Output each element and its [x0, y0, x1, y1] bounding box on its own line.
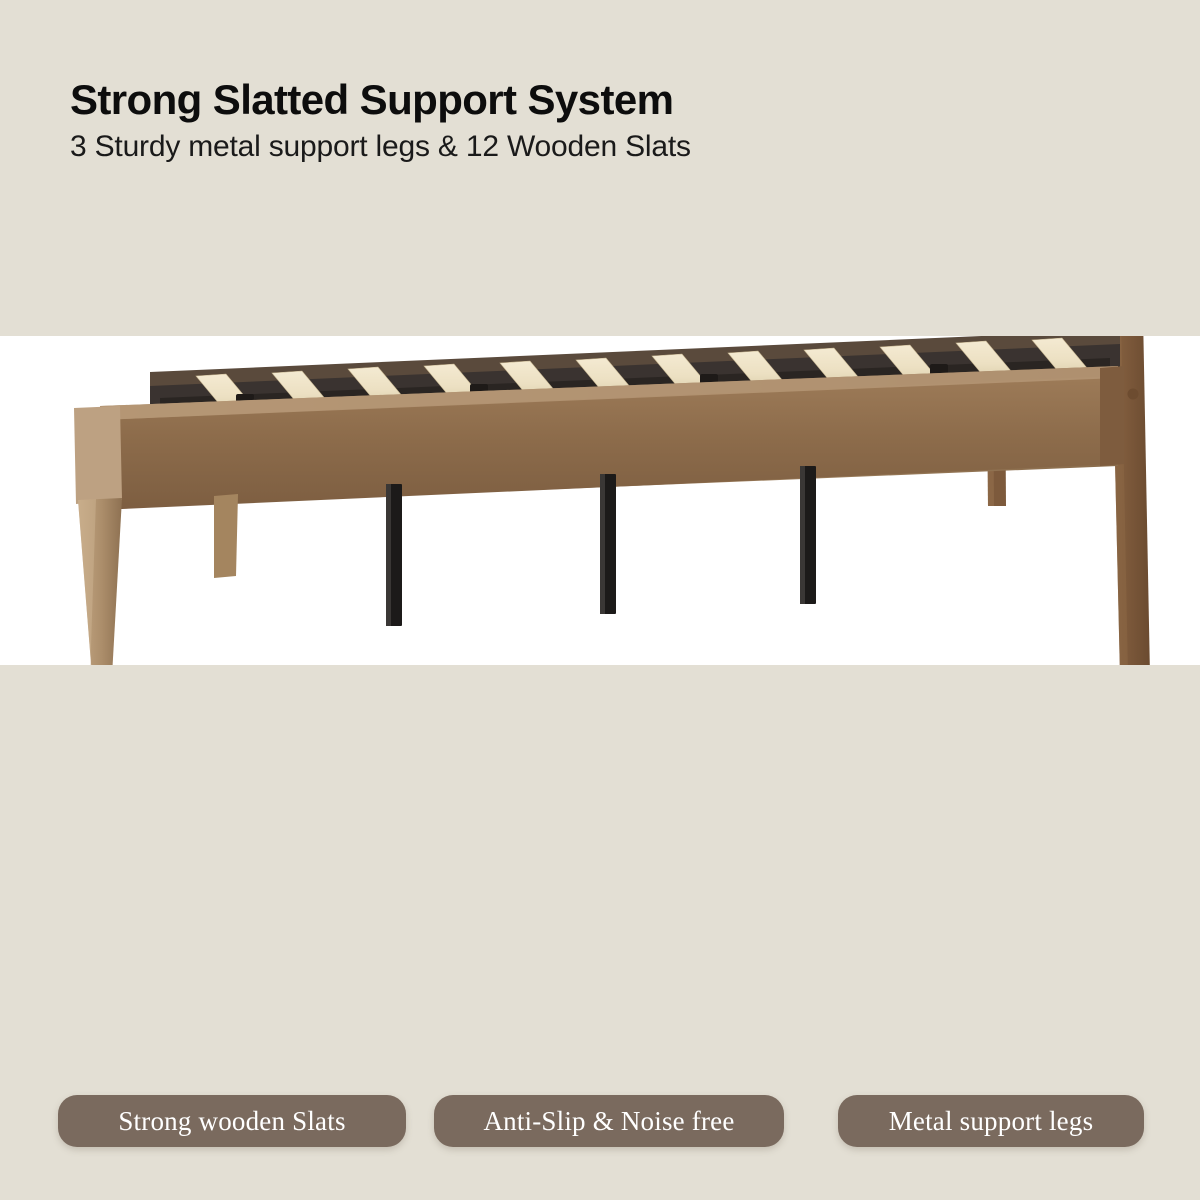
detail-photo-row: 2.75” 3.75”	[0, 665, 1200, 1065]
hero-product-image	[0, 336, 1200, 665]
page-title: Strong Slatted Support System	[70, 78, 930, 123]
top-background-band	[0, 0, 1200, 336]
feature-pill-anti-slip[interactable]: Anti-Slip & Noise free	[434, 1095, 784, 1147]
page-subtitle: 3 Sturdy metal support legs & 12 Wooden …	[70, 130, 930, 164]
feature-label-row: Strong wooden Slats Anti-Slip & Noise fr…	[0, 1095, 1200, 1147]
bed-frame-illustration	[0, 336, 1200, 665]
feature-pill-metal-legs[interactable]: Metal support legs	[838, 1095, 1144, 1147]
feature-pill-slats[interactable]: Strong wooden Slats	[58, 1095, 406, 1147]
header-text-block: Strong Slatted Support System 3 Sturdy m…	[70, 78, 930, 164]
